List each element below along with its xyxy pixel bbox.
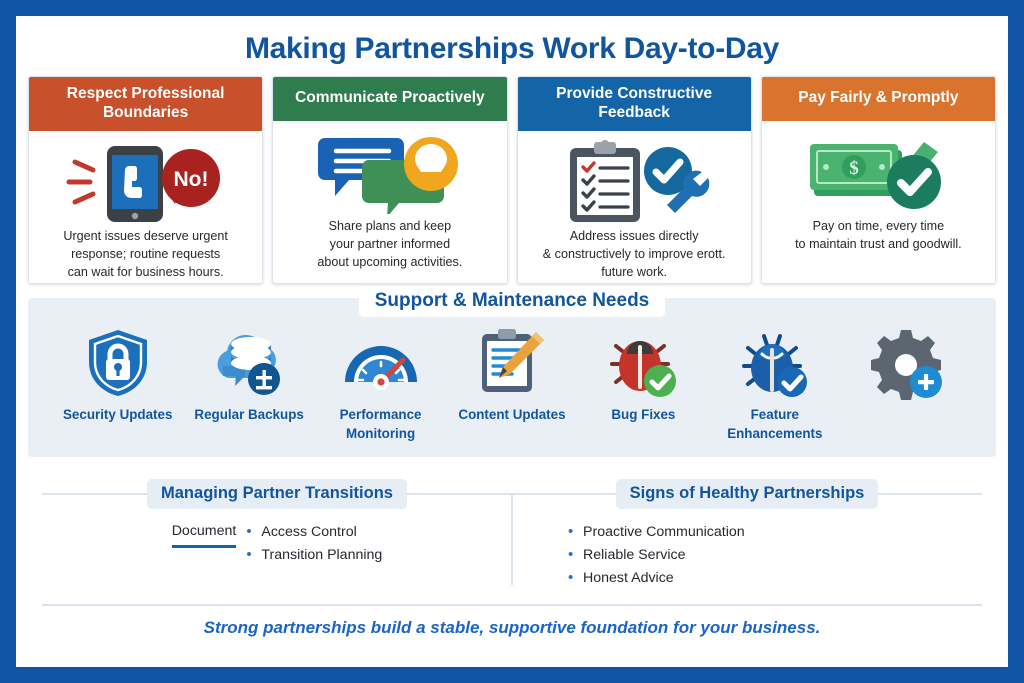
column-managing-partner-transitions: Managing Partner Transitions Document Ac… (42, 479, 512, 590)
red-bug-check-icon (604, 324, 682, 402)
cloud-database-backup-icon (209, 324, 289, 402)
column-signs-of-healthy-partnerships: Signs of Healthy Partnerships Proactive … (512, 479, 982, 590)
support-item-bug-fixes[interactable]: Bug Fixes (578, 324, 709, 425)
blue-bug-check-icon (736, 324, 814, 402)
principle-card-row: Respect Professional Boundaries No! (16, 76, 1008, 284)
support-items-row: Security Updates (34, 324, 990, 443)
document-label: Document (172, 521, 237, 548)
page-title: Making Partnerships Work Day-to-Day (16, 16, 1008, 76)
support-item-gear-plus[interactable] (841, 324, 972, 406)
list-item: Transition Planning (246, 544, 382, 567)
column-title: Managing Partner Transitions (147, 479, 407, 509)
column-title: Signs of Healthy Partnerships (616, 479, 879, 509)
support-item-label: Content Updates (458, 406, 565, 425)
support-item-label: Regular Backups (194, 406, 303, 425)
card-communicate-proactively[interactable]: Communicate Proactively (272, 76, 507, 284)
card-body: Pay on time, every time to maintain trus… (762, 218, 995, 283)
gear-plus-icon (868, 324, 944, 402)
speech-bubbles-lightbulb-icon (273, 121, 506, 218)
support-item-regular-backups[interactable]: Regular Backups (183, 324, 314, 425)
card-body: Urgent issues deserve urgent response; r… (29, 228, 262, 283)
bottom-columns: Managing Partner Transitions Document Ac… (42, 479, 982, 590)
card-header: Communicate Proactively (273, 77, 506, 121)
card-header: Respect Professional Boundaries (29, 77, 262, 131)
column-head-wrap: Signs of Healthy Partnerships (512, 479, 982, 509)
support-item-content-updates[interactable]: Content Updates (446, 324, 577, 425)
card-provide-constructive-feedback[interactable]: Provide Constructive Feedback (517, 76, 752, 284)
card-body: Address issues directly & constructively… (518, 228, 751, 283)
gauge-speedometer-icon (341, 324, 421, 402)
support-panel-title: Support & Maintenance Needs (359, 286, 666, 317)
list-item: Reliable Service (568, 544, 745, 567)
column-body: Proactive Communication Reliable Service… (512, 521, 982, 590)
clipboard-checkmark-wrench-icon (518, 131, 751, 228)
support-title-wrap: Support & Maintenance Needs (28, 286, 996, 317)
clipboard-pencil-icon (474, 324, 550, 402)
support-item-label: Feature Enhancements (709, 406, 840, 443)
list-item: Proactive Communication (568, 521, 745, 544)
svg-text:$: $ (849, 158, 859, 179)
smartphone-alert-no-icon: No! (29, 131, 262, 228)
shield-lock-icon (81, 324, 155, 402)
support-item-security-updates[interactable]: Security Updates (52, 324, 183, 425)
healthy-signs-bullet-list: Proactive Communication Reliable Service… (568, 521, 745, 590)
column-body: Document Access Control Transition Plann… (42, 521, 512, 567)
footer-tagline: Strong partnerships build a stable, supp… (16, 606, 1008, 638)
svg-text:No!: No! (174, 168, 209, 191)
card-header: Provide Constructive Feedback (518, 77, 751, 131)
column-head-wrap: Managing Partner Transitions (42, 479, 512, 509)
support-item-feature-enhancements[interactable]: Feature Enhancements (709, 324, 840, 443)
list-item: Access Control (246, 521, 382, 544)
support-item-label-text: Performance Monitoring (340, 407, 422, 441)
card-body: Share plans and keep your partner inform… (273, 218, 506, 283)
list-item: Honest Advice (568, 567, 745, 590)
support-item-label: Security Updates (63, 406, 172, 425)
cash-checkmark-icon: $ (762, 121, 995, 218)
card-respect-professional-boundaries[interactable]: Respect Professional Boundaries No! (28, 76, 263, 284)
transitions-bullet-list: Access Control Transition Planning (246, 521, 382, 567)
card-header: Pay Fairly & Promptly (762, 77, 995, 121)
card-pay-fairly-and-promptly[interactable]: Pay Fairly & Promptly $ Pay on time, eve… (761, 76, 996, 284)
infographic-frame: Making Partnerships Work Day-to-Day Resp… (16, 16, 1008, 667)
support-item-label: Performance Monitoring (315, 406, 446, 443)
support-item-label: Bug Fixes (611, 406, 675, 425)
support-maintenance-panel: Support & Maintenance Needs Security Upd… (28, 298, 996, 457)
support-item-performance-monitoring[interactable]: Performance Monitoring (315, 324, 446, 443)
bottom-section: Managing Partner Transitions Document Ac… (42, 471, 982, 590)
